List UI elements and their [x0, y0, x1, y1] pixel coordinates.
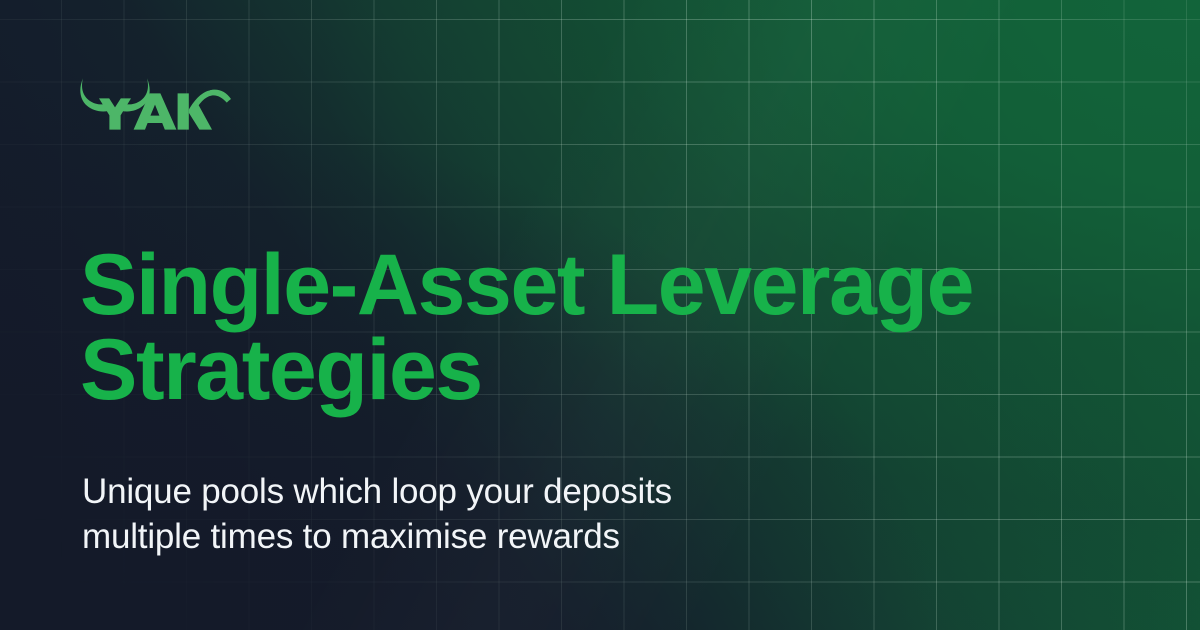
yak-logo-icon	[79, 76, 231, 130]
hero-banner: YAK Single-Asset Leverage Strategies Uni…	[0, 0, 1200, 630]
page-title: Single-Asset Leverage Strategies	[80, 243, 1100, 413]
page-subtitle: Unique pools which loop your deposits mu…	[82, 470, 842, 560]
hero-content: YAK Single-Asset Leverage Strategies Uni…	[0, 0, 1200, 630]
yak-bull-logo[interactable]: YAK	[79, 76, 231, 130]
